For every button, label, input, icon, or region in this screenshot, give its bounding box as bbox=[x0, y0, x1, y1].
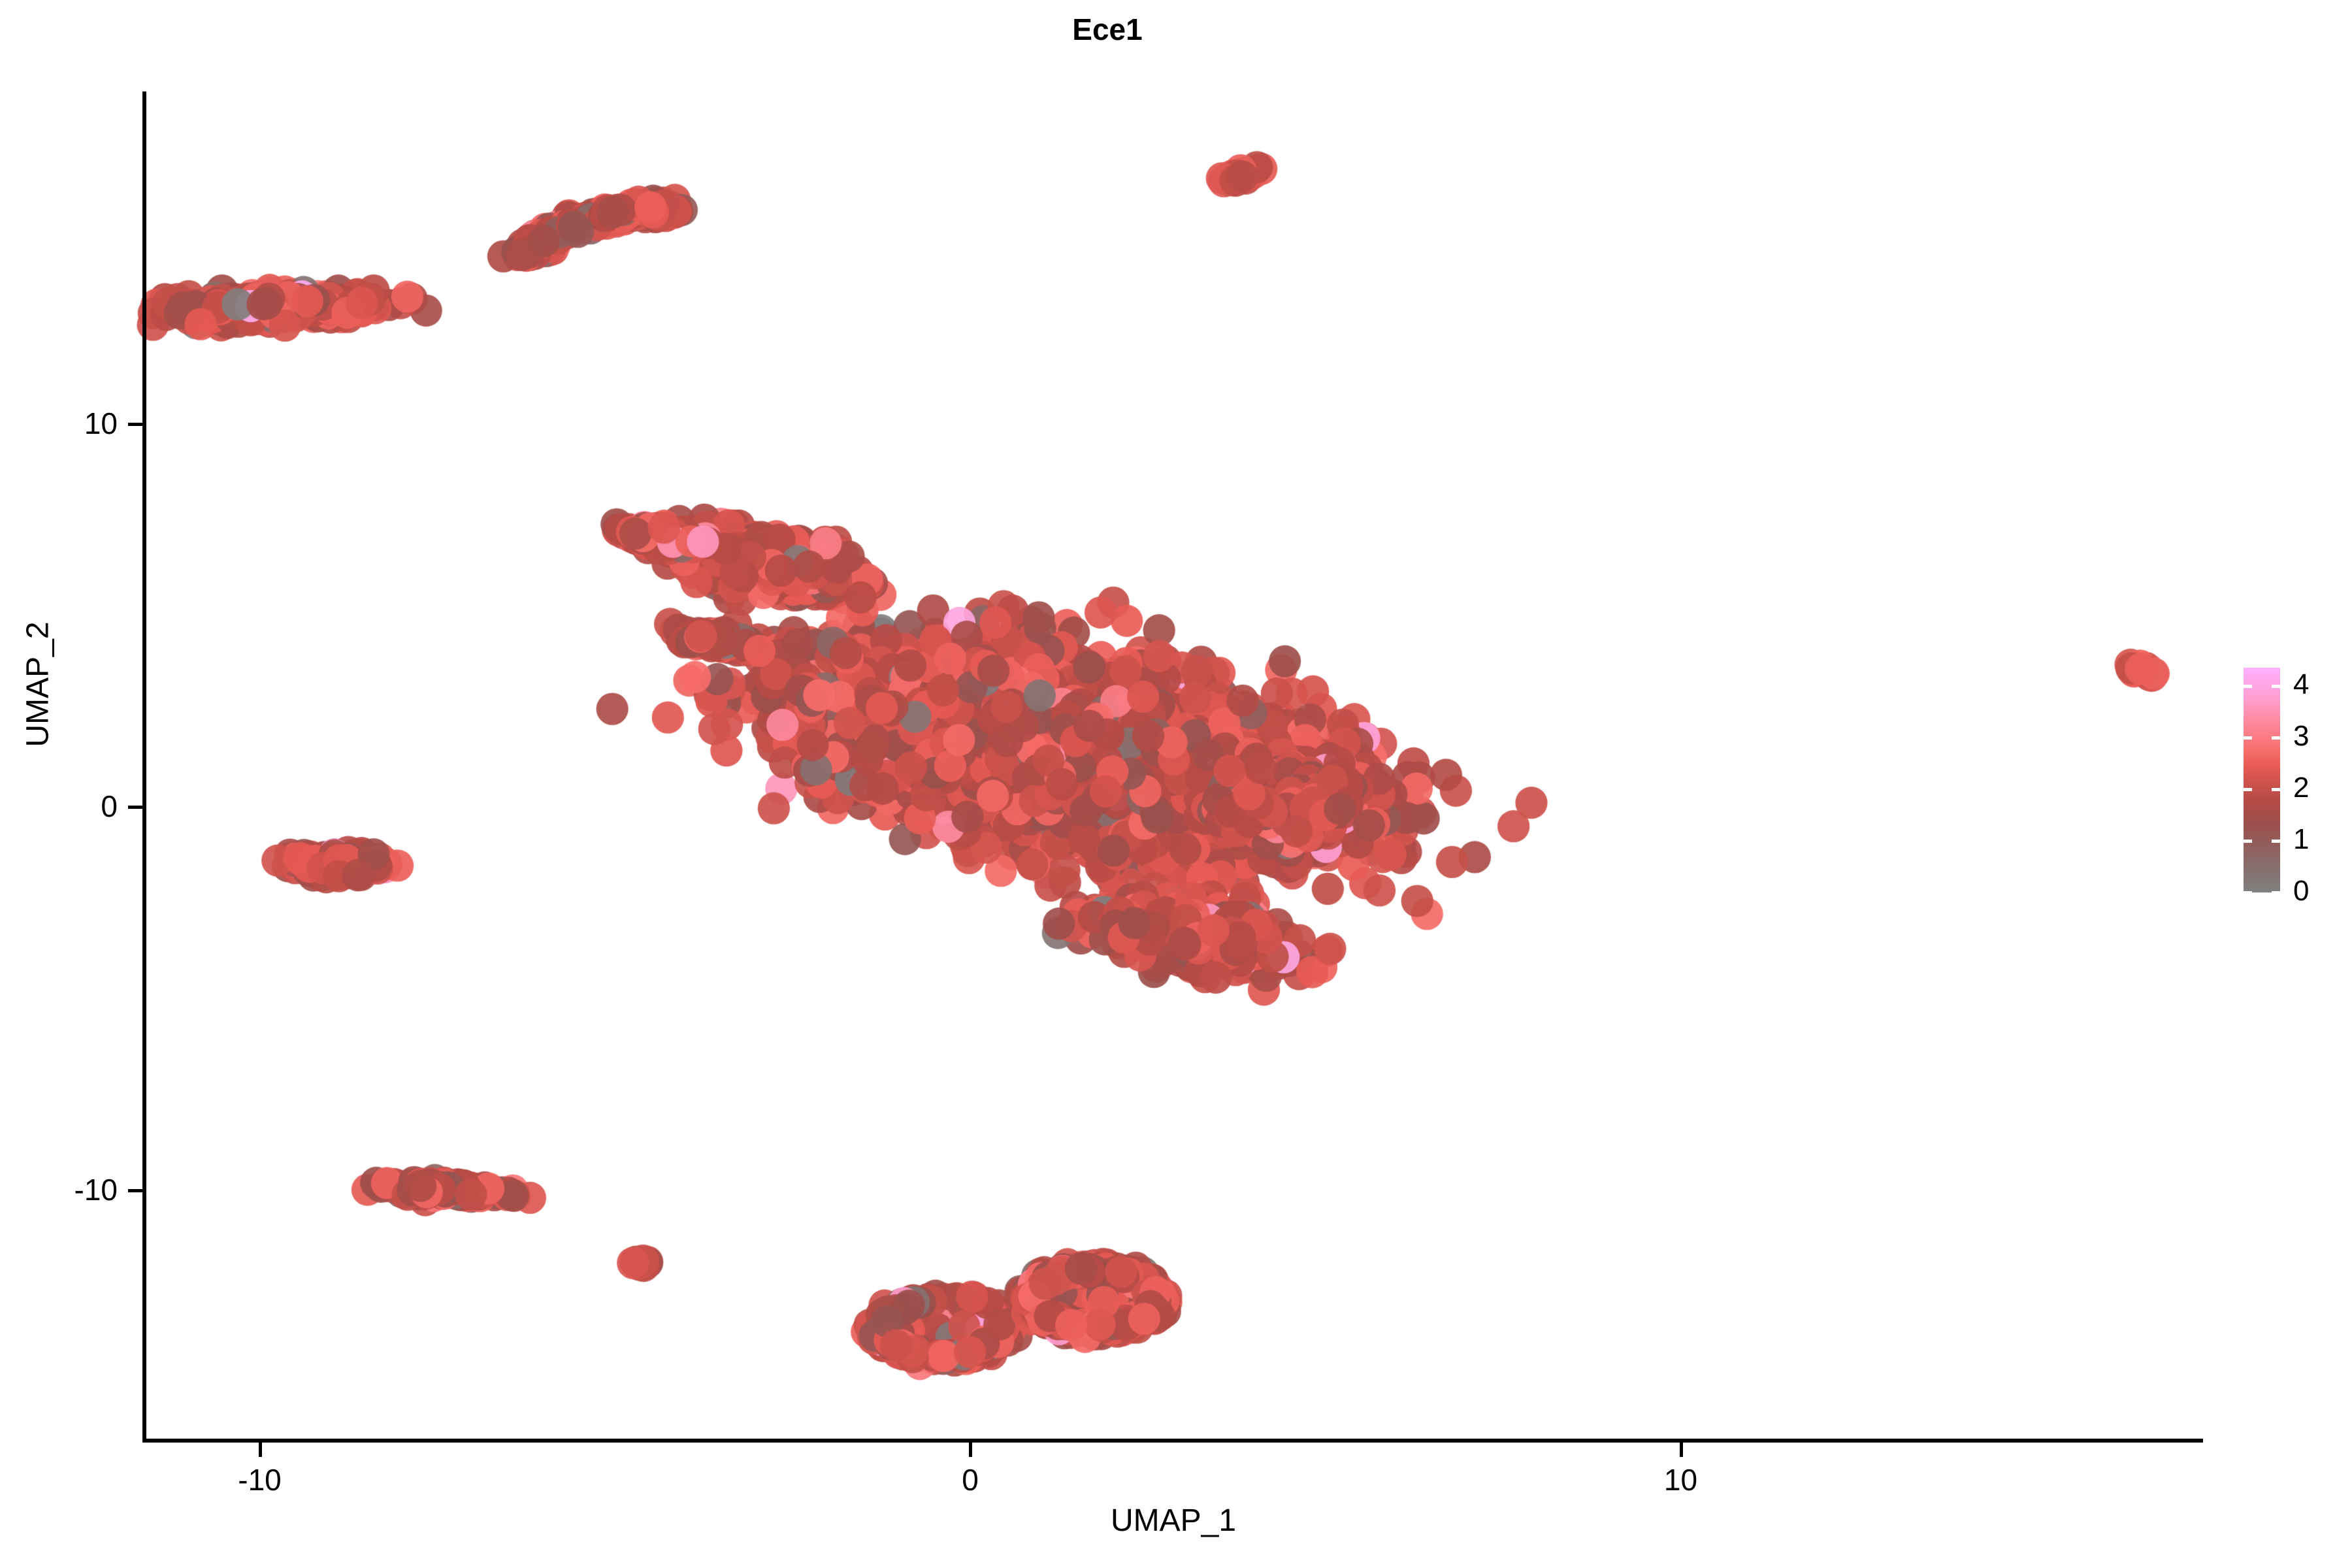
y-tick-mark bbox=[128, 806, 142, 809]
x-axis-line bbox=[142, 1439, 2203, 1443]
scatter-points-layer bbox=[0, 0, 2352, 1568]
colorbar-tick-mark bbox=[2272, 840, 2280, 843]
y-tick-mark bbox=[128, 1189, 142, 1192]
x-tick-mark bbox=[969, 1443, 972, 1457]
x-tick-mark bbox=[1680, 1443, 1683, 1457]
colorbar-tick-label: 0 bbox=[2293, 877, 2309, 906]
x-tick-mark bbox=[259, 1443, 262, 1457]
colorbar-tick-mark bbox=[2272, 788, 2280, 791]
x-tick-label: 0 bbox=[911, 1462, 1029, 1497]
colorbar-tick-mark bbox=[2244, 840, 2252, 843]
colorbar-tick-mark bbox=[2244, 891, 2252, 894]
colorbar-tick-label: 1 bbox=[2293, 825, 2309, 854]
y-axis-label: UMAP_2 bbox=[20, 547, 56, 822]
y-tick-mark bbox=[128, 423, 142, 426]
x-tick-label: 10 bbox=[1622, 1462, 1740, 1497]
colorbar-gradient bbox=[2244, 668, 2280, 892]
colorbar-tick-mark bbox=[2272, 891, 2280, 894]
x-axis-label: UMAP_1 bbox=[144, 1503, 2203, 1539]
colorbar-tick-label: 3 bbox=[2293, 722, 2309, 751]
x-tick-label: -10 bbox=[201, 1462, 319, 1497]
colorbar-tick-label: 2 bbox=[2293, 774, 2309, 802]
colorbar-tick-mark bbox=[2244, 736, 2252, 740]
colorbar-tick-label: 4 bbox=[2293, 670, 2309, 699]
y-tick-label: -10 bbox=[7, 1172, 118, 1207]
y-tick-label: 0 bbox=[7, 789, 118, 824]
colorbar-tick-mark bbox=[2272, 736, 2280, 740]
colorbar-tick-mark bbox=[2244, 685, 2252, 688]
colorbar-tick-mark bbox=[2272, 685, 2280, 688]
umap-scatter-plot: Ece1 UMAP_2 UMAP_1 -10010 -10010 01234 bbox=[0, 0, 2352, 1568]
y-tick-label: 10 bbox=[7, 406, 118, 441]
y-axis-line bbox=[142, 91, 146, 1443]
colorbar-tick-mark bbox=[2244, 788, 2252, 791]
